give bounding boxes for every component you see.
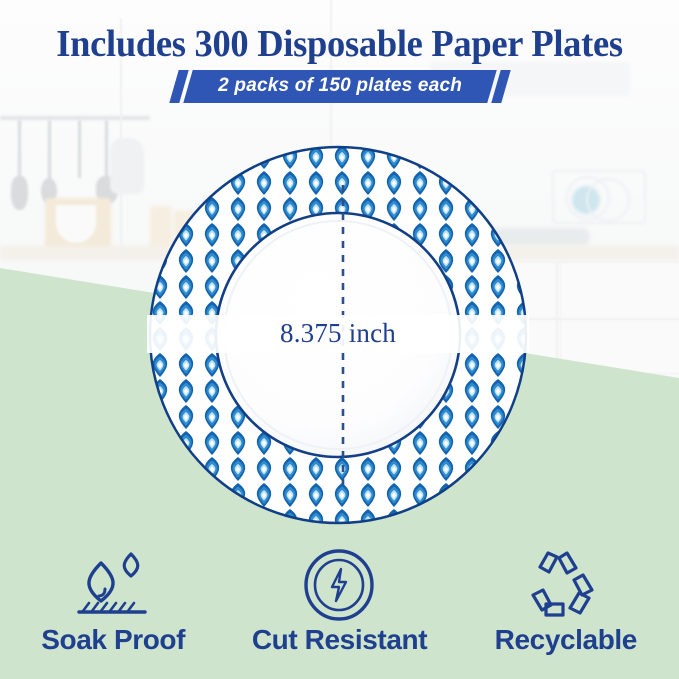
subtitle-banner-wrapper: 2 packs of 150 plates each	[0, 70, 679, 103]
feature-row: Soak Proof Cut Resistant	[0, 548, 679, 656]
feature-recyclable: Recyclable	[453, 548, 679, 656]
utensil-handle-1	[18, 120, 21, 182]
subtitle-banner-label: 2 packs of 150 plates each	[218, 75, 462, 97]
rack-plate-blur-2	[586, 178, 630, 222]
spatula-head-blur	[11, 176, 28, 210]
header: Includes 300 Disposable Paper Plates	[0, 0, 679, 66]
feature-soak-proof: Soak Proof	[0, 548, 226, 656]
banner-tip-right	[491, 70, 510, 103]
product-infographic: Includes 300 Disposable Paper Plates 2 p…	[0, 0, 679, 679]
page-title: Includes 300 Disposable Paper Plates	[14, 0, 666, 66]
utensil-rail-blur	[0, 116, 150, 120]
plate-illustration: 8.375 inch	[147, 144, 529, 526]
recycle-icon	[523, 548, 609, 622]
utensil-handle-4	[105, 120, 108, 182]
utensil-handle-2	[48, 120, 51, 184]
banner-tip-left	[169, 70, 188, 103]
water-drop-icon	[67, 548, 159, 622]
subtitle-banner: 2 packs of 150 plates each	[183, 70, 496, 103]
feature-cut-resistant: Cut Resistant	[226, 548, 452, 656]
feature-label-recyclable: Recyclable	[495, 624, 637, 656]
feature-label-soak-proof: Soak Proof	[41, 624, 185, 656]
feature-label-cut-resistant: Cut Resistant	[252, 624, 427, 656]
plate-size-label: 8.375 inch	[147, 315, 529, 353]
oven-mitt-blur	[110, 138, 144, 194]
utensil-handle-3	[78, 120, 81, 178]
plate-lightning-icon	[299, 548, 379, 622]
